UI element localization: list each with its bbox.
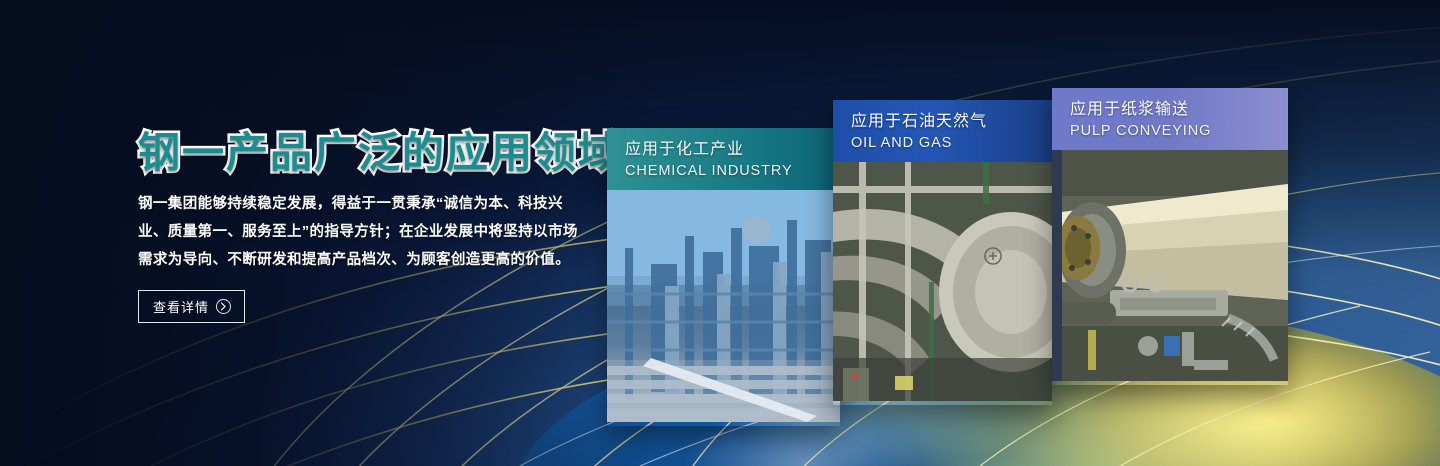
card-header-chemical: 应用于化工产业 CHEMICAL INDUSTRY xyxy=(607,128,840,190)
banner-copy: 钢一产品广泛的应用领域 钢一集团能够持续稳定发展，得益于一贯秉承“诚信为本、科技… xyxy=(138,132,588,323)
view-details-button[interactable]: 查看详情 xyxy=(138,290,245,323)
banner-description: 钢一集团能够持续稳定发展，得益于一贯秉承“诚信为本、科技兴业、质量第一、服务至上… xyxy=(138,190,584,274)
chevron-right-circle-icon xyxy=(216,299,231,314)
hero-banner: 钢一产品广泛的应用领域 钢一集团能够持续稳定发展，得益于一贯秉承“诚信为本、科技… xyxy=(0,0,1440,466)
pulp-roller-photo xyxy=(1052,150,1288,381)
chemical-plant-photo xyxy=(607,190,840,422)
card-title-cn: 应用于化工产业 xyxy=(625,138,840,161)
oil-gas-pipes-photo xyxy=(833,162,1052,401)
card-title-en: OIL AND GAS xyxy=(851,133,1052,153)
page-title: 钢一产品广泛的应用领域 xyxy=(138,132,588,174)
card-header-oil-gas: 应用于石油天然气 OIL AND GAS xyxy=(833,100,1052,162)
application-card-oil-gas[interactable]: 应用于石油天然气 OIL AND GAS xyxy=(833,100,1052,405)
application-card-pulp[interactable]: 应用于纸浆输送 PULP CONVEYING xyxy=(1052,88,1288,385)
application-card-chemical[interactable]: 应用于化工产业 CHEMICAL INDUSTRY xyxy=(607,128,840,426)
card-title-en: PULP CONVEYING xyxy=(1070,121,1288,141)
view-details-label: 查看详情 xyxy=(153,297,209,316)
card-title-en: CHEMICAL INDUSTRY xyxy=(625,161,840,181)
card-header-pulp: 应用于纸浆输送 PULP CONVEYING xyxy=(1052,88,1288,150)
card-title-cn: 应用于纸浆输送 xyxy=(1070,98,1288,121)
card-title-cn: 应用于石油天然气 xyxy=(851,110,1052,133)
